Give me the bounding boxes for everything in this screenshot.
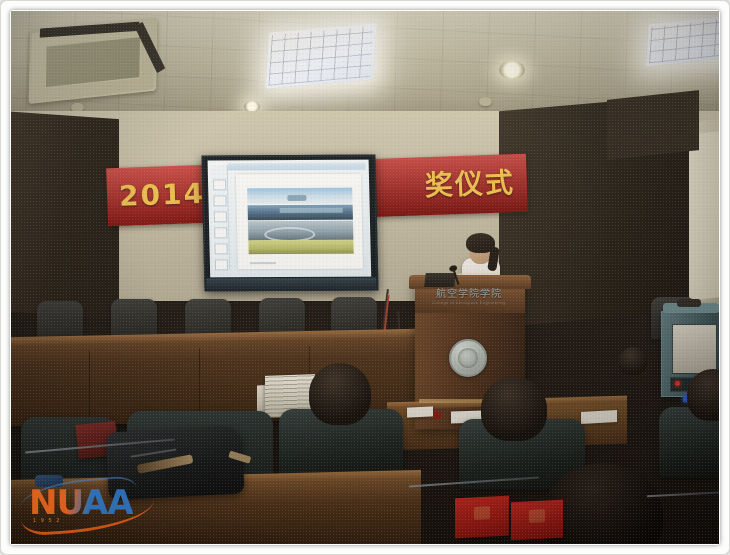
blue-object [35,475,63,487]
screen-bottom-bar [206,278,376,290]
red-stamp [433,411,441,419]
photograph: 2014年度 奖仪式 [11,11,719,544]
slide-thumbnail-panel [211,165,230,269]
backpack-strap [137,454,194,474]
slide-thumbnail [213,179,226,190]
slide-app-titlebar [228,163,366,171]
projection-screen [201,155,378,292]
award-folder [455,496,509,539]
slide-image-vehicle [248,240,353,255]
paper-sheet [581,410,617,424]
slide-thumbnail [214,243,227,254]
audience-head [481,377,547,441]
banner-right-text: 奖仪式 [424,169,515,200]
lectern-sub-plate: College of Aerospace Engineering [421,299,517,306]
cabinet-door [672,324,717,374]
desk-rail [647,491,719,497]
lectern-name-plate: 航空学院学院 [421,286,517,299]
award-folder-emblem [474,506,490,520]
ceiling-downlight [499,61,525,79]
projection-screen-surface [208,160,372,278]
slide-thumbnail [215,259,228,270]
backpack-zipper [131,449,177,458]
slide-image-engine [248,221,353,242]
wall-panel-left [11,111,119,319]
award-folder-emblem [529,509,545,523]
ceiling-speaker [479,97,492,106]
backpack [105,425,244,500]
ceiling-light-panel [265,23,377,89]
slide-footer-line [250,262,276,264]
desk-seam [89,351,90,417]
award-folder [511,500,563,541]
university-emblem-icon [449,339,487,377]
slide-thumbnail [213,195,226,206]
slide-image-runway [248,205,353,221]
slide-image-aircraft [247,188,352,205]
led-red-icon [675,381,680,386]
wall-panel-right-upper [607,90,699,160]
slide-canvas [236,174,363,270]
paper-sheet [407,406,433,417]
ac-grille [45,36,141,88]
slide-thumbnail [214,211,227,222]
audience-head [309,363,371,425]
photo-frame: 2014年度 奖仪式 [0,0,730,555]
cabinet-object [677,299,701,307]
audience-head [619,347,647,375]
slide-thumbnail [214,227,227,238]
wall-curtain-highlight [687,131,719,301]
ceiling-air-conditioner [29,18,158,104]
lectern-laptop [424,273,455,287]
desk-seam [199,348,200,414]
